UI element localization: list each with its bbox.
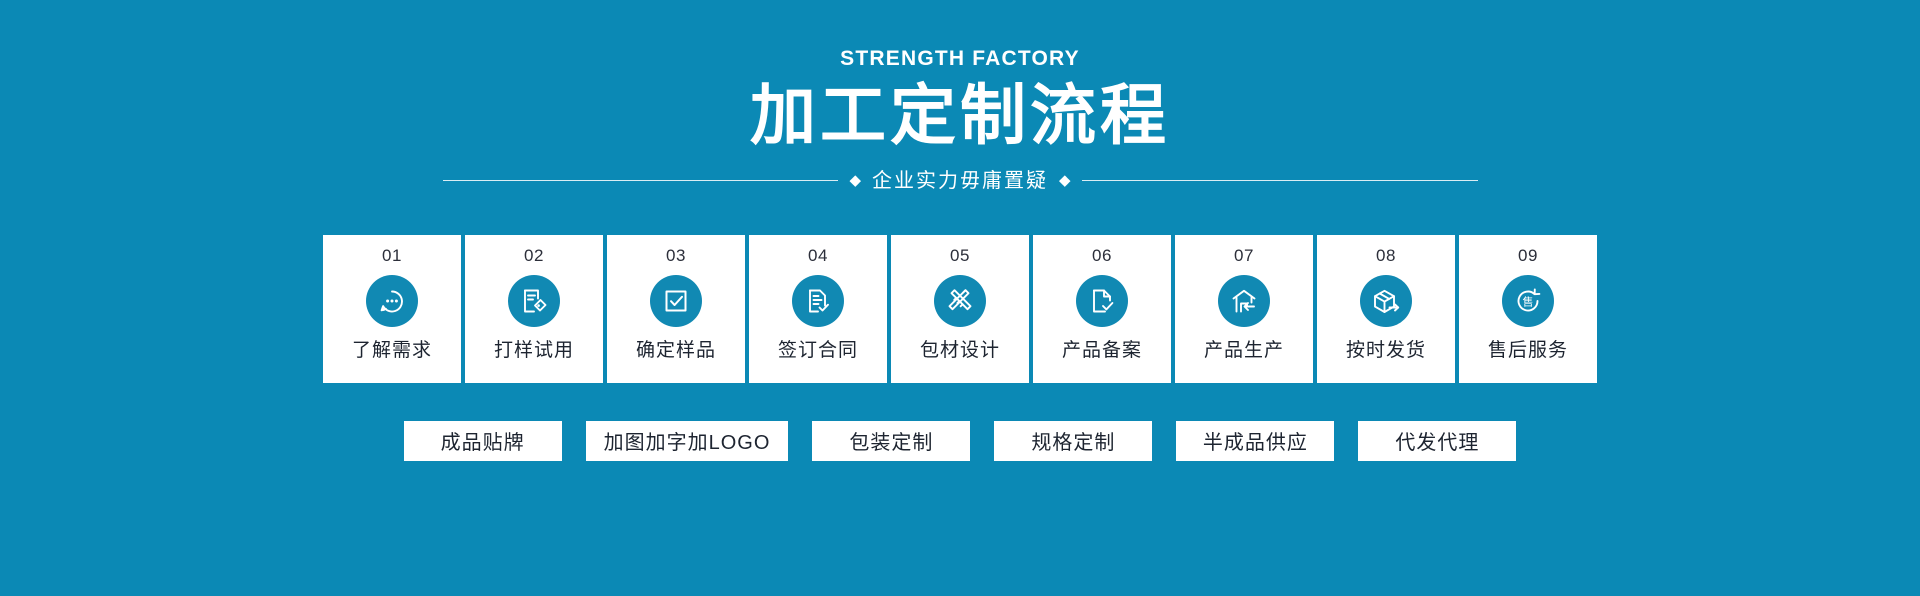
banner-header: STRENGTH FACTORY 加工定制流程 <box>0 0 1920 153</box>
step-card[interactable]: 01 了解需求 <box>323 235 461 383</box>
service-tag[interactable]: 规格定制 <box>994 421 1152 461</box>
divider-line-left <box>443 180 839 181</box>
service-tag[interactable]: 成品贴牌 <box>404 421 562 461</box>
step-card[interactable]: 08 按时发货 <box>1317 235 1455 383</box>
step-number: 06 <box>1092 247 1112 264</box>
diamond-right-icon: ◆ <box>1059 173 1071 188</box>
step-label: 签订合同 <box>778 341 858 360</box>
step-card[interactable]: 04 签订合同 <box>749 235 887 383</box>
step-card[interactable]: 09 售 售后服务 <box>1459 235 1597 383</box>
step-number: 08 <box>1376 247 1396 264</box>
factory-arrow-icon <box>1218 275 1270 327</box>
service-tag[interactable]: 代发代理 <box>1358 421 1516 461</box>
process-banner: STRENGTH FACTORY 加工定制流程 ◆ 企业实力毋庸置疑 ◆ 01 … <box>0 0 1920 596</box>
chat-bubble-icon <box>366 275 418 327</box>
step-card[interactable]: 06 产品备案 <box>1033 235 1171 383</box>
service-tag[interactable]: 半成品供应 <box>1176 421 1334 461</box>
step-label: 确定样品 <box>636 341 716 360</box>
step-number: 05 <box>950 247 970 264</box>
step-number: 03 <box>666 247 686 264</box>
service-tag[interactable]: 包装定制 <box>812 421 970 461</box>
step-card[interactable]: 03 确定样品 <box>607 235 745 383</box>
step-label: 售后服务 <box>1488 341 1568 360</box>
document-tag-icon <box>508 275 560 327</box>
subtitle-text: 企业实力毋庸置疑 <box>872 171 1048 191</box>
step-card[interactable]: 02 打样试用 <box>465 235 603 383</box>
divider-line-right <box>1082 180 1478 181</box>
service-tag[interactable]: 加图加字加LOGO <box>586 421 789 461</box>
diamond-left-icon: ◆ <box>849 173 861 188</box>
subtitle-divider: ◆ 企业实力毋庸置疑 ◆ <box>443 171 1478 191</box>
page-title: 加工定制流程 <box>0 79 1920 153</box>
step-number: 02 <box>524 247 544 264</box>
pencil-ruler-icon <box>934 275 986 327</box>
box-arrow-icon <box>1360 275 1412 327</box>
step-label: 按时发货 <box>1346 341 1426 360</box>
step-number: 07 <box>1234 247 1254 264</box>
step-number: 09 <box>1518 247 1538 264</box>
step-card[interactable]: 05 包材设计 <box>891 235 1029 383</box>
step-number: 04 <box>808 247 828 264</box>
step-label: 产品备案 <box>1062 341 1142 360</box>
step-label: 打样试用 <box>494 341 574 360</box>
process-steps-list: 01 了解需求 02 <box>323 235 1597 383</box>
step-label: 包材设计 <box>920 341 1000 360</box>
eyebrow-text: STRENGTH FACTORY <box>0 48 1920 69</box>
step-number: 01 <box>382 247 402 264</box>
svg-text:售: 售 <box>1523 294 1534 308</box>
after-sales-refresh-icon: 售 <box>1502 275 1554 327</box>
step-card[interactable]: 07 产品生产 <box>1175 235 1313 383</box>
checkbox-icon <box>650 275 702 327</box>
step-label: 了解需求 <box>352 341 432 360</box>
service-tags-list: 成品贴牌 加图加字加LOGO 包装定制 规格定制 半成品供应 代发代理 <box>404 421 1517 461</box>
step-label: 产品生产 <box>1204 341 1284 360</box>
page-check-icon <box>1076 275 1128 327</box>
contract-check-icon <box>792 275 844 327</box>
